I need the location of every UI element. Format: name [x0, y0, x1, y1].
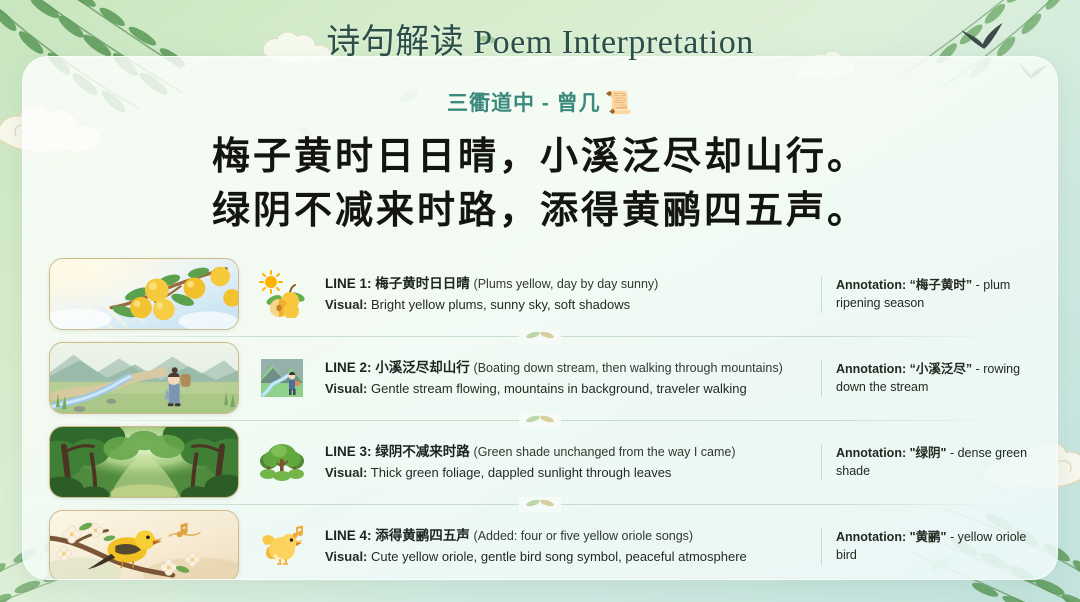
- line-number-label: LINE 1:: [325, 276, 372, 291]
- line-main-text: LINE 3: 绿阴不减来时路 (Green shade unchanged f…: [325, 442, 807, 463]
- annotation-label: Annotation:: [836, 446, 906, 460]
- line-chinese: 小溪泛尽却山行: [375, 360, 470, 375]
- mountain-stream-hiker-icon: [239, 355, 325, 401]
- annotation-term: “小溪泛尽”: [910, 362, 973, 376]
- visual-label: Visual:: [325, 549, 367, 564]
- visual-label: Visual:: [325, 297, 367, 312]
- line-number-label: LINE 2:: [325, 360, 372, 375]
- line-english: (Green shade unchanged from the way I ca…: [474, 445, 736, 459]
- interpretation-rows: LINE 1: 梅子黄时日日晴 (Plums yellow, day by da…: [23, 253, 1057, 580]
- line-text-cell: LINE 4: 添得黄鹂四五声 (Added: four or five yel…: [325, 526, 821, 567]
- poem-line-2: 绿阴不减来时路，添得黄鹂四五声。: [23, 185, 1057, 239]
- interpretation-row[interactable]: LINE 1: 梅子黄时日日晴 (Plums yellow, day by da…: [49, 253, 1031, 336]
- line-visual-text: Visual: Thick green foliage, dappled sun…: [325, 463, 807, 483]
- visual-description: Cute yellow oriole, gentle bird song sym…: [371, 549, 747, 564]
- annotation-term: "绿阴": [910, 446, 947, 460]
- thumbnail-yellow-oriole-blossoms[interactable]: [49, 510, 239, 580]
- line-text-cell: LINE 1: 梅子黄时日日晴 (Plums yellow, day by da…: [325, 274, 821, 315]
- poem-body: 梅子黄时日日晴，小溪泛尽却山行。 绿阴不减来时路，添得黄鹂四五声。: [23, 131, 1057, 239]
- annotation-term: “梅子黄时”: [910, 278, 973, 292]
- annotation-cell: Annotation: "黄鹂" - yellow oriole bird: [821, 528, 1031, 566]
- interpretation-row[interactable]: LINE 4: 添得黄鹂四五声 (Added: four or five yel…: [49, 505, 1031, 580]
- line-main-text: LINE 1: 梅子黄时日日晴 (Plums yellow, day by da…: [325, 274, 807, 295]
- deciduous-trees-icon: [239, 439, 325, 485]
- line-text-cell: LINE 3: 绿阴不减来时路 (Green shade unchanged f…: [325, 442, 821, 483]
- visual-label: Visual:: [325, 465, 367, 480]
- annotation-cell: Annotation: “小溪泛尽” - rowing down the str…: [821, 360, 1031, 398]
- line-english: (Boating down stream, then walking throu…: [474, 361, 783, 375]
- annotation-cell: Annotation: “梅子黄时” - plum ripening seaso…: [821, 276, 1031, 314]
- visual-label: Visual:: [325, 381, 367, 396]
- scroll-icon: 📜: [605, 90, 633, 115]
- leaf-divider-icon: [519, 329, 561, 344]
- line-main-text: LINE 2: 小溪泛尽却山行 (Boating down stream, th…: [325, 358, 807, 379]
- row-divider: [79, 336, 1001, 337]
- line-visual-text: Visual: Gentle stream flowing, mountains…: [325, 379, 807, 399]
- line-chinese: 添得黄鹂四五声: [375, 528, 470, 543]
- row-divider: [79, 420, 1001, 421]
- poem-subtitle: 三衢道中 - 曾几📜: [23, 87, 1057, 117]
- thumbnail-stream-and-traveler[interactable]: [49, 342, 239, 414]
- poem-subtitle-text: 三衢道中 - 曾几: [447, 92, 601, 115]
- line-number-label: LINE 3:: [325, 444, 372, 459]
- line-chinese: 绿阴不减来时路: [375, 444, 470, 459]
- poem-line-1: 梅子黄时日日晴，小溪泛尽却山行。: [23, 131, 1057, 185]
- line-chinese: 梅子黄时日日晴: [375, 276, 470, 291]
- annotation-label: Annotation:: [836, 278, 906, 292]
- interpretation-row[interactable]: LINE 3: 绿阴不减来时路 (Green shade unchanged f…: [49, 421, 1031, 504]
- annotation-cell: Annotation: "绿阴" - dense green shade: [821, 444, 1031, 482]
- thumbnail-green-forest-path[interactable]: [49, 426, 239, 498]
- thumbnail-yellow-plums-branch[interactable]: [49, 258, 239, 330]
- line-number-label: LINE 4:: [325, 528, 372, 543]
- annotation-label: Annotation:: [836, 530, 906, 544]
- leaf-divider-icon: [519, 413, 561, 428]
- visual-description: Thick green foliage, dappled sunlight th…: [371, 465, 672, 480]
- line-visual-text: Visual: Cute yellow oriole, gentle bird …: [325, 547, 807, 567]
- line-visual-text: Visual: Bright yellow plums, sunny sky, …: [325, 295, 807, 315]
- sun-and-plums-icon: [239, 270, 325, 318]
- annotation-term: "黄鹂": [910, 530, 947, 544]
- line-main-text: LINE 4: 添得黄鹂四五声 (Added: four or five yel…: [325, 526, 807, 547]
- visual-description: Bright yellow plums, sunny sky, soft sha…: [371, 297, 630, 312]
- leaf-divider-icon: [519, 497, 561, 512]
- line-text-cell: LINE 2: 小溪泛尽却山行 (Boating down stream, th…: [325, 358, 821, 399]
- interpretation-row[interactable]: LINE 2: 小溪泛尽却山行 (Boating down stream, th…: [49, 337, 1031, 420]
- line-english: (Added: four or five yellow oriole songs…: [474, 529, 694, 543]
- page-title: 诗句解读 Poem Interpretation: [0, 14, 1080, 63]
- poem-card: 三衢道中 - 曾几📜 梅子黄时日日晴，小溪泛尽却山行。 绿阴不减来时路，添得黄鹂…: [22, 56, 1058, 580]
- singing-yellow-bird-icon: [239, 523, 325, 569]
- annotation-label: Annotation:: [836, 362, 906, 376]
- visual-description: Gentle stream flowing, mountains in back…: [371, 381, 747, 396]
- line-english: (Plums yellow, day by day sunny): [474, 277, 659, 291]
- music-note-icon: [293, 526, 303, 539]
- row-divider: [79, 504, 1001, 505]
